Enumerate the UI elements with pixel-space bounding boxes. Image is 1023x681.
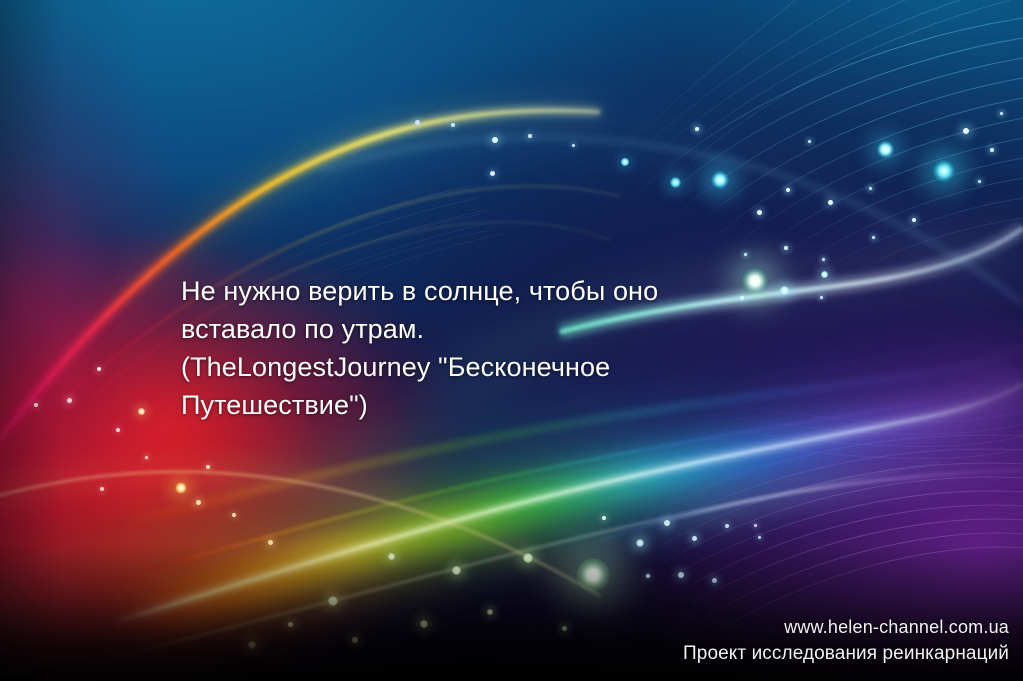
quote-text: Не нужно верить в солнце, чтобы оно вста… [181,272,781,424]
footer-tagline: Проект исследования реинкарнаций [683,640,1009,667]
footer-website-url[interactable]: www.helen-channel.com.ua [683,614,1009,640]
footer: www.helen-channel.com.ua Проект исследов… [683,614,1009,667]
quote-card: Не нужно верить в солнце, чтобы оно вста… [0,0,1023,681]
